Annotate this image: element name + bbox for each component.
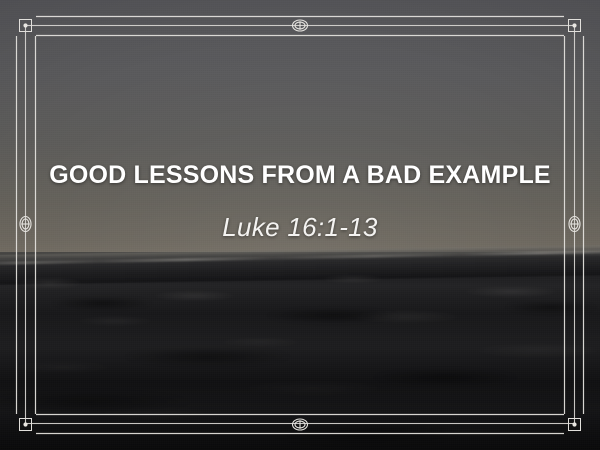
title-slide: GOOD LESSONS FROM A BAD EXAMPLE Luke 16:… [0,0,600,450]
text-block: GOOD LESSONS FROM A BAD EXAMPLE Luke 16:… [0,160,600,243]
ocean-vignette [0,258,600,450]
slide-subtitle: Luke 16:1-13 [0,212,600,243]
slide-title: GOOD LESSONS FROM A BAD EXAMPLE [0,160,600,190]
